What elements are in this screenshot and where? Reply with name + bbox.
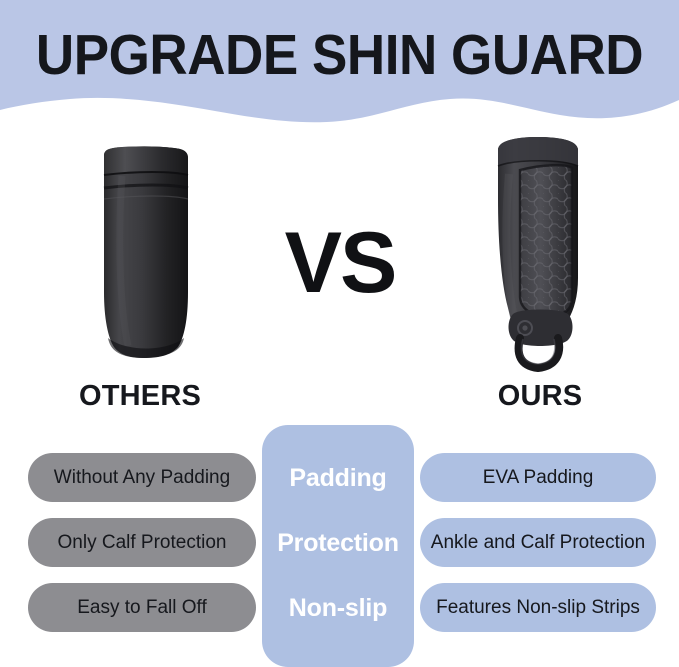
others-cell-non-slip: Easy to Fall Off xyxy=(28,583,256,632)
page-title: UPGRADE SHIN GUARD xyxy=(24,22,655,88)
feature-label-padding: Padding xyxy=(262,463,414,493)
others-cell-protection: Only Calf Protection xyxy=(28,518,256,567)
feature-label-protection: Protection xyxy=(262,528,414,558)
ours-product-image xyxy=(468,128,616,372)
vs-label: VS xyxy=(255,218,425,308)
honeycomb-pad-texture xyxy=(516,162,578,322)
ours-cell-protection: Ankle and Calf Protection xyxy=(420,518,656,567)
product-comparison-infographic: UPGRADE SHIN GUARD xyxy=(0,0,679,667)
comparison-table: Without Any Padding Padding EVA Padding … xyxy=(0,425,679,667)
ours-cell-padding: EVA Padding xyxy=(420,453,656,502)
product-compare-area: VS OTHERS OURS xyxy=(0,128,679,428)
header-banner: UPGRADE SHIN GUARD xyxy=(0,0,679,128)
others-product-image xyxy=(78,142,214,370)
ours-cell-non-slip: Features Non-slip Strips xyxy=(420,583,656,632)
feature-label-non-slip: Non-slip xyxy=(262,593,414,623)
ours-column-caption: OURS xyxy=(440,380,640,412)
others-column-caption: OTHERS xyxy=(40,380,240,412)
others-cell-padding: Without Any Padding xyxy=(28,453,256,502)
